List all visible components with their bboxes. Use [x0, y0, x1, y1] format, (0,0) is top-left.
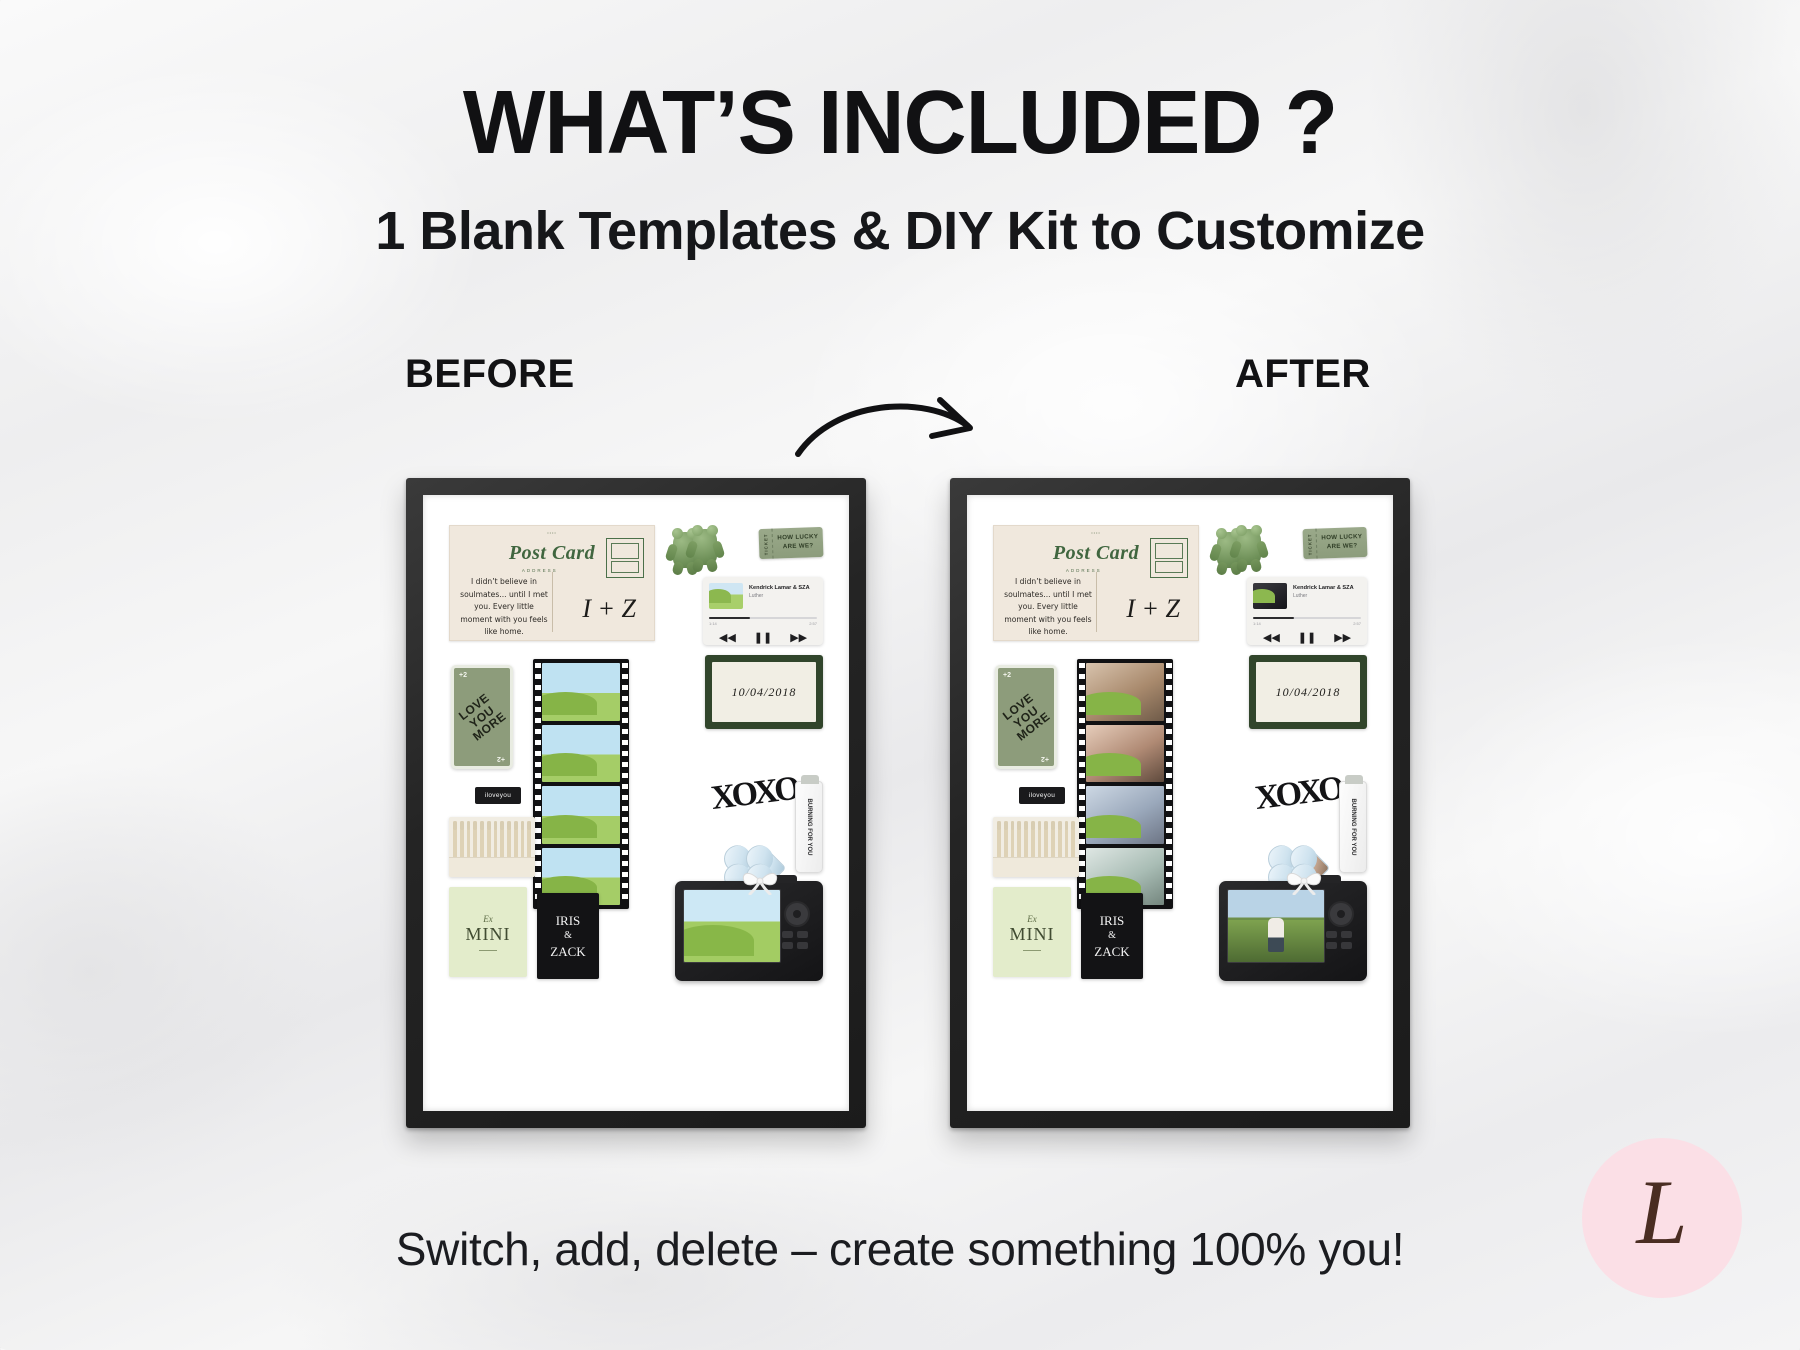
digital-camera: [675, 881, 823, 981]
camera-screen-blank: [683, 889, 781, 963]
mini-card-sticker: Ex MINI: [993, 887, 1071, 977]
postcard: •••• Post Card ADDRESS I didn’t believe …: [993, 525, 1199, 641]
player-time-total: 2:57: [1353, 621, 1361, 626]
film-photo: [1086, 663, 1164, 721]
ticket-line-2: ARE WE?: [1317, 542, 1367, 553]
matchsticks: [449, 817, 535, 861]
after-mat: •••• Post Card ADDRESS I didn’t believe …: [967, 495, 1393, 1111]
player-artist: Luther: [1293, 593, 1354, 599]
uno-card-sticker: +2 +2 LOVE YOU MORE: [995, 665, 1057, 769]
ticket-body: HOW LUCKY ARE WE?: [773, 533, 824, 553]
xoxo-lettering: XOXO: [1253, 770, 1343, 818]
postcard-top-mark: ••••: [994, 530, 1198, 535]
camera-screen-photo: [1227, 889, 1325, 963]
date-card-text: 10/04/2018: [712, 662, 816, 722]
after-label: AFTER: [1235, 352, 1371, 397]
player-artist: Luther: [749, 593, 810, 599]
camera-buttons: [1324, 895, 1358, 957]
player-time-elapsed: 1:14: [709, 621, 717, 626]
postcard: •••• Post Card ADDRESS I didn’t believe …: [449, 525, 655, 641]
ticket-stub: TICKET: [1302, 529, 1317, 559]
mini-card-small-text: Ex: [1027, 914, 1037, 924]
after-collage: •••• Post Card ADDRESS I didn’t believe …: [993, 525, 1367, 1059]
iloveyou-tab-sticker: iloveyou: [475, 787, 521, 804]
camera-buttons: [780, 895, 814, 957]
lighter-text: BURNING FOR YOU: [806, 799, 812, 856]
ticket-stub: TICKET: [758, 529, 773, 559]
promo-graphic: WHAT’S INCLUDED ? 1 Blank Templates & DI…: [0, 0, 1800, 1350]
player-time-total: 2:57: [809, 621, 817, 626]
before-mat: •••• Post Card ADDRESS I didn’t believe …: [423, 495, 849, 1111]
album-art: [1253, 583, 1287, 609]
ticket-line-2: ARE WE?: [773, 542, 823, 553]
film-cell: [542, 725, 620, 783]
white-ribbon-bow-icon: [739, 865, 781, 895]
postcard-message: I didn’t believe in soulmates... until I…: [460, 576, 548, 639]
names-second: ZACK: [550, 943, 585, 961]
uno-card-text: LOVE YOU MORE: [430, 661, 534, 773]
film-photo: [1086, 725, 1164, 783]
pause-icon[interactable]: ❚❚: [754, 631, 772, 644]
mini-card-rule: [1023, 950, 1041, 951]
matchbox-sticker: [449, 817, 535, 877]
names-card: IRIS & ZACK: [1081, 893, 1143, 979]
brand-logo: L: [1582, 1138, 1742, 1298]
before-collage: •••• Post Card ADDRESS I didn’t believe …: [449, 525, 823, 1059]
white-ribbon-bow-icon: [1283, 865, 1325, 895]
frog-right: [693, 529, 717, 565]
xoxo-lettering: XOXO: [709, 770, 799, 818]
ticket-sticker: TICKET HOW LUCKY ARE WE?: [758, 527, 823, 559]
skip-forward-icon[interactable]: ▶▶: [790, 631, 807, 644]
frog-right: [1237, 529, 1261, 565]
postcard-stamp-box: [1150, 538, 1188, 578]
player-progress-bar[interactable]: [709, 617, 817, 619]
music-player-widget: Kendrick Lamar & SZA Luther 1:14 2:57 ◀◀…: [703, 577, 823, 645]
frog-plushies-icon: [673, 527, 725, 569]
names-amp: &: [1108, 929, 1116, 943]
names-amp: &: [564, 929, 572, 943]
matchsticks: [993, 817, 1079, 861]
film-photo: [1086, 786, 1164, 844]
film-cell: [542, 786, 620, 844]
names-second: ZACK: [1094, 943, 1129, 961]
digital-camera: [1219, 881, 1367, 981]
player-time-elapsed: 1:14: [1253, 621, 1261, 626]
lighter-sticker: BURNING FOR YOU: [795, 781, 823, 873]
player-progress-bar[interactable]: [1253, 617, 1361, 619]
after-frame: •••• Post Card ADDRESS I didn’t believe …: [950, 478, 1410, 1128]
frog-plushies-icon: [1217, 527, 1269, 569]
names-first: IRIS: [1100, 912, 1125, 930]
names-card: IRIS & ZACK: [537, 893, 599, 979]
postcard-divider: [552, 572, 553, 632]
postcard-top-mark: ••••: [450, 530, 654, 535]
postcard-message: I didn’t believe in soulmates... until I…: [1004, 576, 1092, 639]
iloveyou-tab-sticker: iloveyou: [1019, 787, 1065, 804]
date-card: 10/04/2018: [1249, 655, 1367, 729]
brand-logo-letter: L: [1636, 1166, 1687, 1258]
page-title: WHAT’S INCLUDED ?: [27, 72, 1773, 175]
mini-card-small-text: Ex: [483, 914, 493, 924]
mini-card-big-text: MINI: [1010, 924, 1055, 945]
matchbox-sticker: [993, 817, 1079, 877]
player-song-title: Kendrick Lamar & SZA: [749, 585, 810, 591]
uno-card-sticker: +2 +2 LOVE YOU MORE: [451, 665, 513, 769]
ticket-stub-label: TICKET: [763, 533, 769, 555]
player-song-title: Kendrick Lamar & SZA: [1293, 585, 1354, 591]
before-frame: •••• Post Card ADDRESS I didn’t believe …: [406, 478, 866, 1128]
footer-caption: Switch, add, delete – create something 1…: [0, 1222, 1800, 1276]
names-first: IRIS: [556, 912, 581, 930]
mini-card-sticker: Ex MINI: [449, 887, 527, 977]
film-strip-blank: [533, 659, 629, 909]
pause-icon[interactable]: ❚❚: [1298, 631, 1316, 644]
skip-back-icon[interactable]: ◀◀: [1263, 631, 1280, 644]
matchbox-lid: [993, 857, 1079, 877]
postcard-initials: I + Z: [582, 594, 636, 624]
music-player-widget: Kendrick Lamar & SZA Luther 1:14 2:57 ◀◀…: [1247, 577, 1367, 645]
date-card-text: 10/04/2018: [1256, 662, 1360, 722]
skip-back-icon[interactable]: ◀◀: [719, 631, 736, 644]
date-card: 10/04/2018: [705, 655, 823, 729]
film-cell: [542, 663, 620, 721]
mini-card-big-text: MINI: [466, 924, 511, 945]
lighter-sticker: BURNING FOR YOU: [1339, 781, 1367, 873]
camera-dpad-icon: [784, 901, 810, 927]
matchbox-lid: [449, 857, 535, 877]
album-art-placeholder: [709, 583, 743, 609]
skip-forward-icon[interactable]: ▶▶: [1334, 631, 1351, 644]
postcard-initials: I + Z: [1126, 594, 1180, 624]
before-label: BEFORE: [405, 352, 575, 397]
page-subtitle: 1 Blank Templates & DIY Kit to Customize: [0, 200, 1800, 262]
ticket-body: HOW LUCKY ARE WE?: [1317, 533, 1368, 553]
uno-card-text: LOVE YOU MORE: [974, 661, 1078, 773]
postcard-divider: [1096, 572, 1097, 632]
ticket-stub-label: TICKET: [1307, 533, 1313, 555]
lighter-text: BURNING FOR YOU: [1350, 799, 1356, 856]
curved-arrow-right-icon: [790, 392, 990, 467]
mini-card-rule: [479, 950, 497, 951]
postcard-stamp-box: [606, 538, 644, 578]
camera-dpad-icon: [1328, 901, 1354, 927]
film-strip-with-photos: [1077, 659, 1173, 909]
ticket-sticker: TICKET HOW LUCKY ARE WE?: [1302, 527, 1367, 559]
couple-photo-figure: [1268, 918, 1284, 952]
